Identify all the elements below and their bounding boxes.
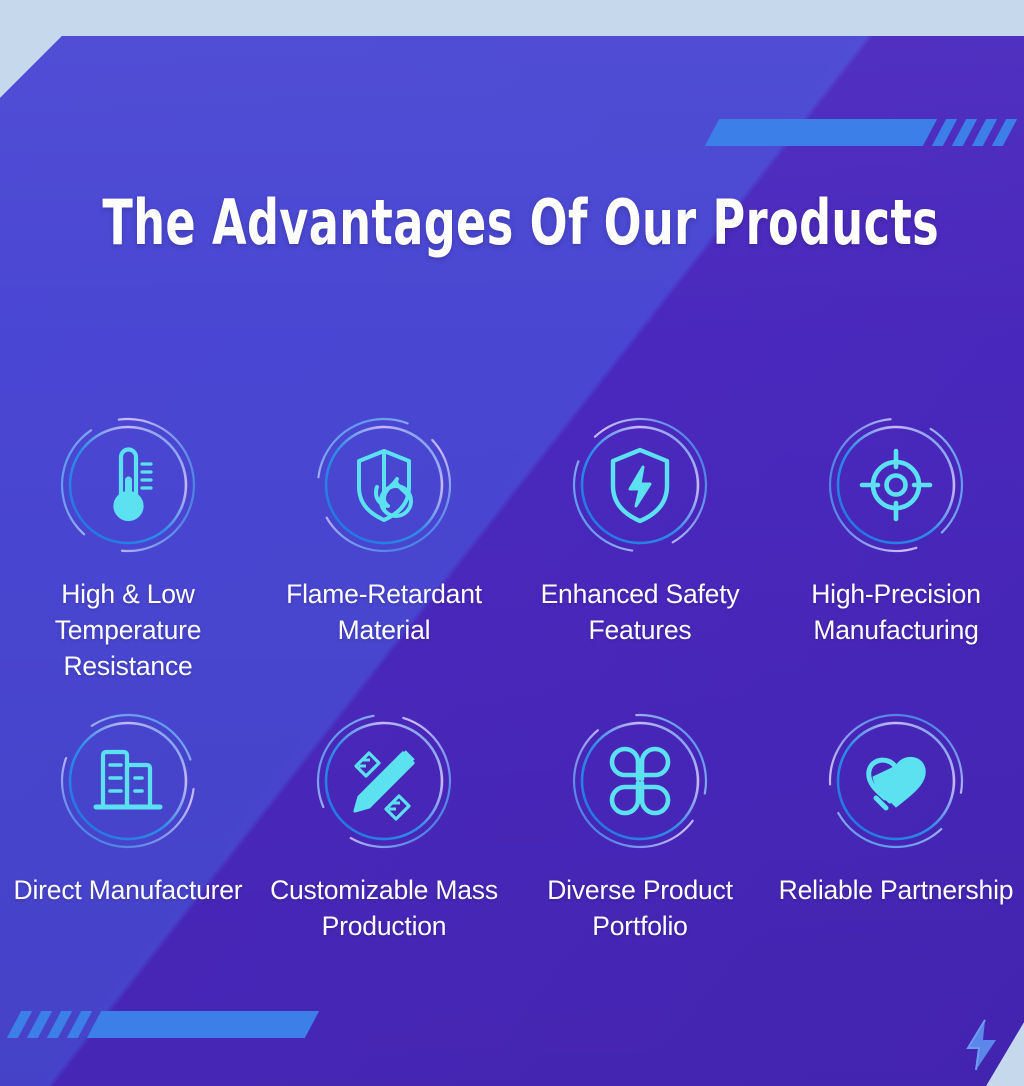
feature-item[interactable]: High & Low Temperature Resistance: [0, 410, 256, 684]
handshake-heart-icon: [821, 706, 971, 856]
feature-item[interactable]: Reliable Partnership: [768, 706, 1024, 944]
deco-top-right: [712, 119, 1010, 146]
feature-label: Direct Manufacturer: [14, 872, 243, 908]
feature-label: Flame-Retardant Material: [267, 576, 502, 648]
factory-icon: [53, 706, 203, 856]
shield-flame-icon: [309, 410, 459, 560]
shield-bolt-icon: [565, 410, 715, 560]
pencil-ruler-icon: [309, 706, 459, 856]
feature-label: High & Low Temperature Resistance: [11, 576, 246, 684]
deco-bar: [87, 1011, 319, 1038]
page-title: The Advantages Of Our Products: [102, 186, 921, 259]
infographic-canvas: The Advantages Of Our Products: [0, 0, 1024, 1086]
deco-bar: [705, 119, 937, 146]
feature-item[interactable]: Customizable Mass Production: [256, 706, 512, 944]
thermometer-icon: [53, 410, 203, 560]
feature-label: Diverse Product Portfolio: [523, 872, 758, 944]
feature-label: High-Precision Manufacturing: [779, 576, 1014, 648]
feature-label: Customizable Mass Production: [267, 872, 502, 944]
feature-item[interactable]: Diverse Product Portfolio: [512, 706, 768, 944]
deco-bottom-left: [14, 1011, 312, 1038]
four-petal-icon: [565, 706, 715, 856]
feature-item[interactable]: Flame-Retardant Material: [256, 410, 512, 684]
crosshair-icon: [821, 410, 971, 560]
main-panel: The Advantages Of Our Products: [0, 36, 1024, 1086]
feature-label: Reliable Partnership: [779, 872, 1014, 908]
feature-label: Enhanced Safety Features: [523, 576, 758, 648]
feature-grid: High & Low Temperature Resistance: [0, 410, 1024, 944]
feature-item[interactable]: Enhanced Safety Features: [512, 410, 768, 684]
lightning-bolt-logo: [960, 1018, 1004, 1072]
feature-item[interactable]: Direct Manufacturer: [0, 706, 256, 944]
feature-item[interactable]: High-Precision Manufacturing: [768, 410, 1024, 684]
